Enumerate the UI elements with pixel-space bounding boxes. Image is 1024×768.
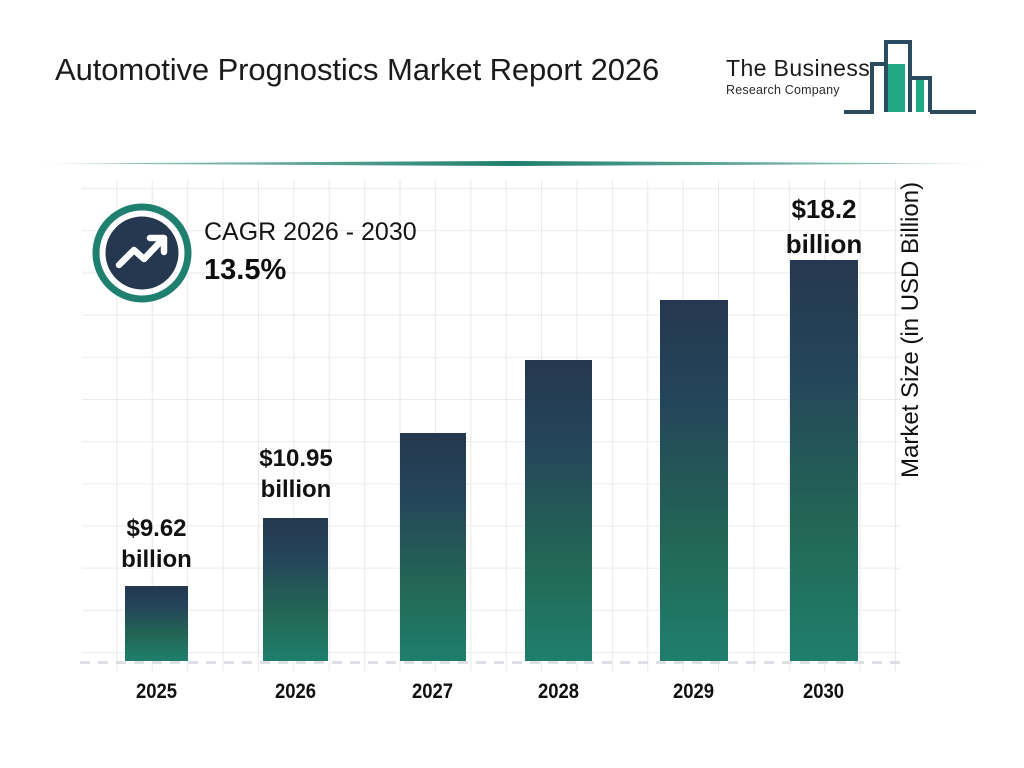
cagr-text-group: CAGR 2026 - 2030 13.5% — [204, 216, 417, 290]
x-tick-2030: 2030 — [782, 680, 866, 704]
bar-2027[interactable] — [400, 433, 466, 661]
cagr-value-label: 13.5% — [204, 250, 417, 290]
bar-2025[interactable] — [125, 586, 188, 661]
bar-2029[interactable] — [660, 300, 728, 661]
cagr-badge: CAGR 2026 - 2030 13.5% — [92, 203, 482, 313]
trending-up-arrow-icon — [92, 203, 192, 303]
cagr-period-label: CAGR 2026 - 2030 — [204, 216, 417, 248]
company-logo: The Business Research Company — [726, 34, 976, 126]
bar-2028[interactable] — [525, 360, 592, 661]
x-tick-2025: 2025 — [115, 680, 199, 704]
y-axis-title: Market Size (in USD Billion) — [897, 78, 937, 478]
x-tick-2028: 2028 — [517, 680, 601, 704]
header-divider — [30, 161, 994, 166]
chart-baseline — [80, 661, 900, 664]
bar-2026[interactable] — [263, 518, 328, 661]
bar-value-label-2025: $9.62 billion — [104, 513, 209, 575]
bar-value-label-2026: $10.95 billion — [232, 443, 360, 505]
x-tick-2029: 2029 — [652, 680, 736, 704]
report-header: Automotive Prognostics Market Report 202… — [0, 0, 1024, 150]
x-tick-2026: 2026 — [254, 680, 338, 704]
page-title: Automotive Prognostics Market Report 202… — [55, 48, 695, 92]
bar-2030[interactable] — [790, 260, 858, 661]
x-tick-2027: 2027 — [391, 680, 475, 704]
bar-value-label-2030: $18.2 billion — [760, 192, 888, 262]
